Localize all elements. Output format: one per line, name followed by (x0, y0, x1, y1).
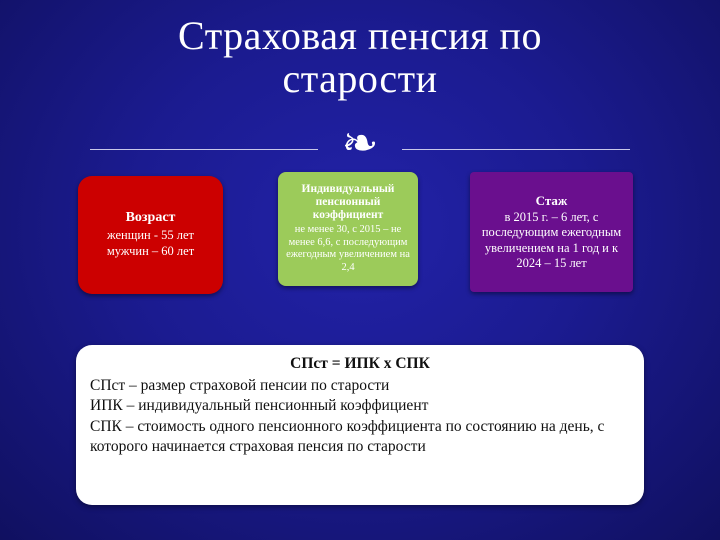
criteria-box-age: Возраст женщин - 55 лет мужчин – 60 лет (78, 176, 223, 294)
criteria-boxes: Возраст женщин - 55 лет мужчин – 60 лет … (0, 172, 720, 302)
divider: ❧ (90, 128, 630, 170)
fleuron-ornament-icon: ❧ (342, 122, 379, 166)
criteria-box-stazh-title: Стаж (536, 193, 568, 209)
criteria-box-age-body: женщин - 55 лет мужчин – 60 лет (107, 228, 194, 259)
formula-legend-line-1: СПст – размер страховой пенсии по старос… (90, 376, 630, 397)
divider-rule-right (402, 149, 630, 150)
criteria-box-stazh: Стаж в 2015 г. – 6 лет, с последующим еж… (470, 172, 633, 292)
divider-rule-left (90, 149, 318, 150)
formula-panel: СПст = ИПК х СПК СПст – размер страховой… (76, 345, 644, 505)
criteria-box-age-title: Возраст (126, 210, 176, 226)
formula-legend-line-3: СПК – стоимость одного пенсионного коэфф… (90, 417, 630, 458)
criteria-box-ipk-body: не менее 30, с 2015 – не менее 6,6, с по… (284, 224, 412, 275)
criteria-box-ipk-title: Индивидуальный пенсионный коэффициент (284, 183, 412, 222)
formula-expression: СПст = ИПК х СПК (90, 354, 630, 375)
slide-background: Страховая пенсия по старости ❧ Возраст ж… (0, 0, 720, 540)
page-title: Страховая пенсия по старости (60, 14, 660, 100)
page-title-line-1: Страховая пенсия по (178, 13, 542, 58)
criteria-box-stazh-body: в 2015 г. – 6 лет, с последующим ежегодн… (476, 210, 627, 271)
formula-legend-line-2: ИПК – индивидуальный пенсионный коэффици… (90, 396, 630, 417)
criteria-box-ipk: Индивидуальный пенсионный коэффициент не… (278, 172, 418, 286)
page-title-line-2: старости (60, 57, 660, 100)
